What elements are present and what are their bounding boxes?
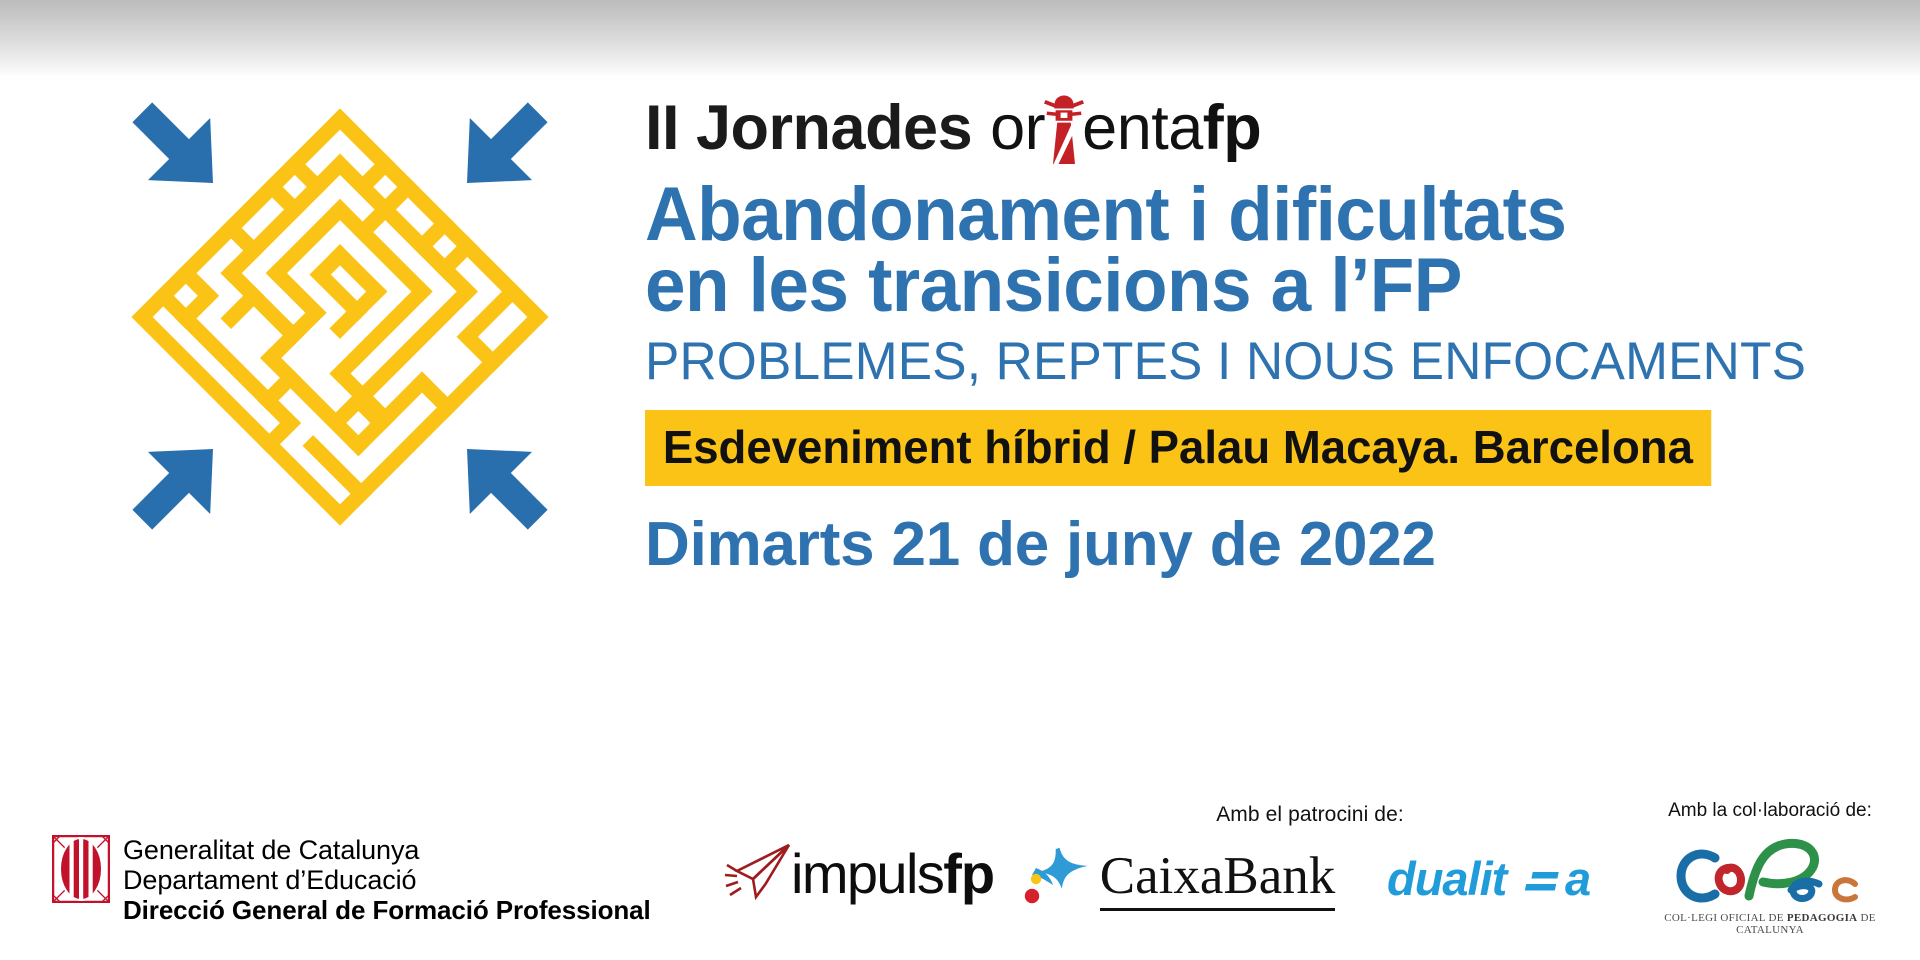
copec-subtitle-pre: COL·LEGI OFICIAL DE <box>1664 912 1787 924</box>
page-title: Abandonament i dificultats en les transi… <box>645 180 1826 321</box>
headline-line-2: en les transicions a l’FP <box>645 251 1826 322</box>
orientafp-logo: or <box>990 86 1261 160</box>
sponsors-row: CaixaBank dualit a <box>1030 845 1590 915</box>
brand-line: II Jornades or <box>645 88 1875 160</box>
copec-logo: COL·LEGI OFICIAL DE PEDAGOGIA DE CATALUN… <box>1630 832 1910 936</box>
organizer-line-3: Direcció General de Formació Professiona… <box>123 895 651 925</box>
venue-badge: Esdeveniment híbrid / Palau Macaya. Barc… <box>645 410 1711 486</box>
footer: Generalitat de Catalunya Departament d’E… <box>0 795 1920 960</box>
collaborator-block: Amb la col·laboració de: COL·LEGI OFICIA… <box>1630 795 1910 936</box>
poster-text-column: II Jornades or <box>645 88 1875 576</box>
caixabank-star-icon <box>1018 845 1096 915</box>
poster-canvas: II Jornades or <box>0 0 1920 960</box>
maze-diamond-graphic <box>125 95 555 535</box>
organizer-logo: Generalitat de Catalunya Departament d’E… <box>52 835 651 926</box>
sponsors-label: Amb el patrocini de: <box>1030 803 1590 827</box>
subtitle: PROBLEMES, REPTES I NOUS ENFOCAMENTS <box>645 335 1838 388</box>
copec-subtitle-bold: PEDAGOGIA <box>1787 912 1858 924</box>
dualitza-logo: dualit a <box>1387 852 1602 908</box>
organizer-line-1: Generalitat de Catalunya <box>123 835 651 865</box>
organizer-text: Generalitat de Catalunya Departament d’E… <box>123 835 651 926</box>
edition-label: II Jornades <box>645 97 972 160</box>
logo-suffix: fp <box>1203 97 1261 160</box>
impuls-word-light: impuls <box>791 842 943 905</box>
svg-text:a: a <box>1565 852 1591 905</box>
svg-text:dualit: dualit <box>1387 852 1510 905</box>
event-date: Dimarts 21 de juny de 2022 <box>645 514 1875 576</box>
paper-plane-icon <box>723 843 795 905</box>
impuls-word-bold: fp <box>943 842 994 905</box>
impulsfp-logo: impulsfp <box>723 843 994 905</box>
lighthouse-icon <box>1044 90 1084 164</box>
caixabank-wordmark: CaixaBank <box>1100 850 1336 911</box>
sponsors-block: Amb el patrocini de: CaixaBank <box>1030 795 1590 915</box>
copec-subtitle: COL·LEGI OFICIAL DE PEDAGOGIA DE CATALUN… <box>1630 912 1910 936</box>
collaborator-label: Amb la col·laboració de: <box>1630 800 1910 822</box>
organizer-line-2: Departament d’Educació <box>123 865 651 895</box>
logo-prefix: or <box>990 97 1045 160</box>
logo-middle: enta <box>1082 97 1203 160</box>
generalitat-shield-icon <box>52 835 110 903</box>
impulsfp-wordmark: impulsfp <box>791 846 994 902</box>
caixabank-logo: CaixaBank <box>1018 845 1336 915</box>
